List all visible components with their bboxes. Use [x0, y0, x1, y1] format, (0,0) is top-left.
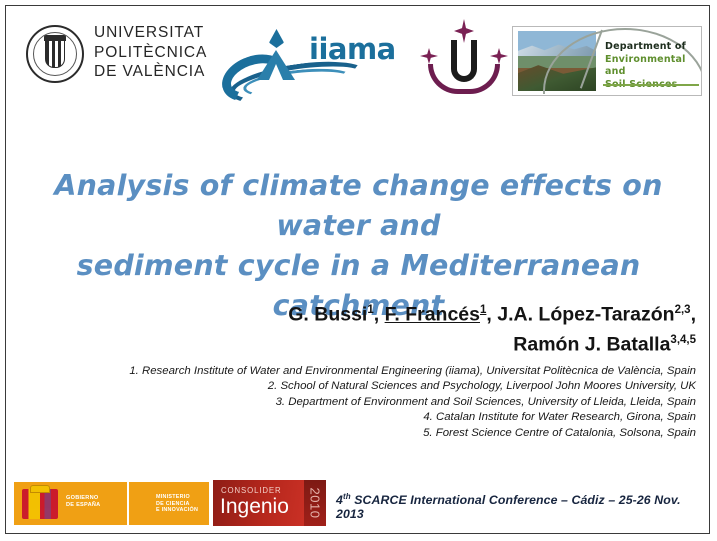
author-separator-3: , — [691, 304, 696, 326]
upv-line-3: DE VALÈNCIA — [94, 62, 207, 82]
department-line-2: Environmental and — [605, 54, 697, 79]
author-line-2: Ramón J. Batalla3,4,5 — [36, 328, 696, 358]
gobierno-de-espana-logo: GOBIERNO DE ESPAÑA — [14, 482, 127, 525]
ingenio-wordmark: Ingenio — [220, 495, 289, 519]
author-batalla: Ramón J. Batalla — [513, 333, 670, 355]
presentation-slide: UNIVERSITAT POLITÈCNICA DE VALÈNCIA iiam… — [5, 5, 710, 534]
author-line-1: G. Bussi1, F. Francés1, J.A. López-Taraz… — [36, 298, 696, 328]
ministerio-ciencia-innovacion-logo: MINISTERIO DE CIENCIA E INNOVACIÓN — [129, 482, 209, 525]
logo-bar: UNIVERSITAT POLITÈCNICA DE VALÈNCIA iiam… — [6, 6, 709, 110]
author-batalla-affil: 3,4,5 — [670, 334, 696, 346]
author-frances: F. Francés — [385, 304, 480, 326]
department-environmental-soil-sciences-logo: Department of Environmental and Soil Sci… — [512, 26, 702, 96]
affiliation-item: 3. Department of Environment and Soil Sc… — [66, 395, 696, 410]
universitat-de-lleida-logo — [418, 20, 510, 98]
author-lopez-tarazon: J.A. López-Tarazón — [497, 304, 674, 326]
title-line-1: Analysis of climate change effects on wa… — [20, 166, 697, 246]
upv-seal-icon — [26, 25, 84, 83]
consolider-year-panel: 2010 — [304, 480, 326, 526]
conference-name: SCARCE International Conference – Cádiz … — [336, 493, 681, 521]
affiliation-item: 2. School of Natural Sciences and Psycho… — [66, 379, 696, 394]
upv-logo: UNIVERSITAT POLITÈCNICA DE VALÈNCIA — [26, 24, 216, 86]
upv-logo-text: UNIVERSITAT POLITÈCNICA DE VALÈNCIA — [94, 23, 207, 82]
iiama-wordmark: iiama — [309, 32, 396, 66]
spain-coat-of-arms-icon — [22, 489, 58, 519]
consolider-year: 2010 — [308, 488, 323, 519]
upv-line-2: POLITÈCNICA — [94, 43, 207, 63]
ministerio-line-1: MINISTERIO — [156, 494, 198, 501]
author-bussi: G. Bussi — [288, 304, 367, 326]
affiliation-item: 4. Catalan Institute for Water Research,… — [66, 410, 696, 425]
affiliation-item: 1. Research Institute of Water and Envir… — [66, 364, 696, 379]
upv-shield-icon — [45, 40, 65, 68]
consolider-ingenio-logo: CONSOLIDER Ingenio 2010 — [213, 480, 326, 526]
author-lopez-tarazon-affil: 2,3 — [675, 304, 691, 316]
department-line-1: Department of — [605, 41, 697, 54]
author-separator-1: , — [374, 304, 385, 326]
conference-footer-text: 4th SCARCE International Conference – Cá… — [336, 492, 709, 521]
conference-number: 4 — [336, 493, 343, 507]
upv-line-1: UNIVERSITAT — [94, 23, 207, 43]
iiama-logo: iiama — [221, 26, 406, 94]
gobierno-line-2: DE ESPAÑA — [66, 502, 100, 509]
ministerio-logo-text: MINISTERIO DE CIENCIA E INNOVACIÓN — [156, 494, 198, 514]
author-list: G. Bussi1, F. Francés1, J.A. López-Taraz… — [36, 298, 696, 357]
conference-ordinal: th — [343, 492, 351, 501]
affiliation-item: 5. Forest Science Centre of Catalonia, S… — [66, 426, 696, 441]
author-separator-2: , — [486, 304, 497, 326]
gobierno-line-1: GOBIERNO — [66, 495, 100, 502]
water-drop-icon — [269, 29, 284, 48]
upv-crown-icon — [44, 35, 66, 41]
water-splash-inner-icon — [269, 64, 283, 80]
udl-letter-u-icon — [451, 40, 477, 82]
consolider-label: CONSOLIDER — [221, 486, 282, 495]
star-right-icon — [490, 48, 508, 64]
star-left-icon — [420, 48, 438, 64]
affiliation-list: 1. Research Institute of Water and Envir… — [66, 364, 696, 441]
department-underline — [603, 84, 699, 86]
ministerio-line-3: E INNOVACIÓN — [156, 507, 198, 514]
gobierno-logo-text: GOBIERNO DE ESPAÑA — [66, 495, 100, 508]
slide-footer: GOBIERNO DE ESPAÑA MINISTERIO DE CIENCIA… — [6, 475, 709, 533]
